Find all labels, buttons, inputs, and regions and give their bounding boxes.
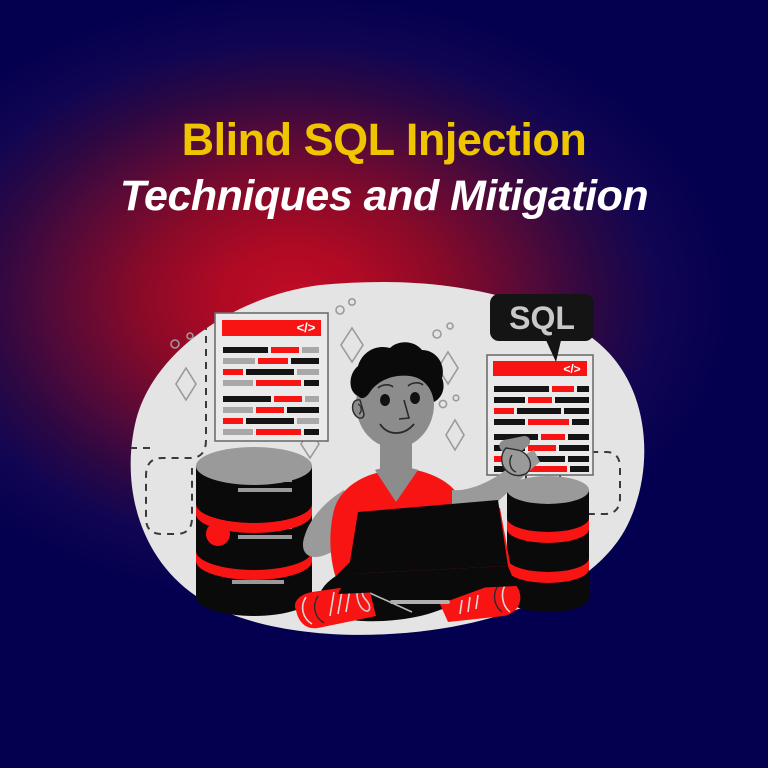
database-stack-left xyxy=(196,447,312,616)
poster-title-block: Blind SQL Injection Techniques and Mitig… xyxy=(0,116,768,222)
code-tag-icon: </> xyxy=(563,362,580,376)
code-tag-icon: </> xyxy=(297,320,316,335)
title-line-secondary: Techniques and Mitigation xyxy=(0,171,768,223)
poster-canvas: </> xyxy=(0,0,768,768)
title-line-primary: Blind SQL Injection xyxy=(0,116,768,165)
sql-bubble-label: SQL xyxy=(509,300,575,336)
code-document-left: </> xyxy=(215,313,328,441)
